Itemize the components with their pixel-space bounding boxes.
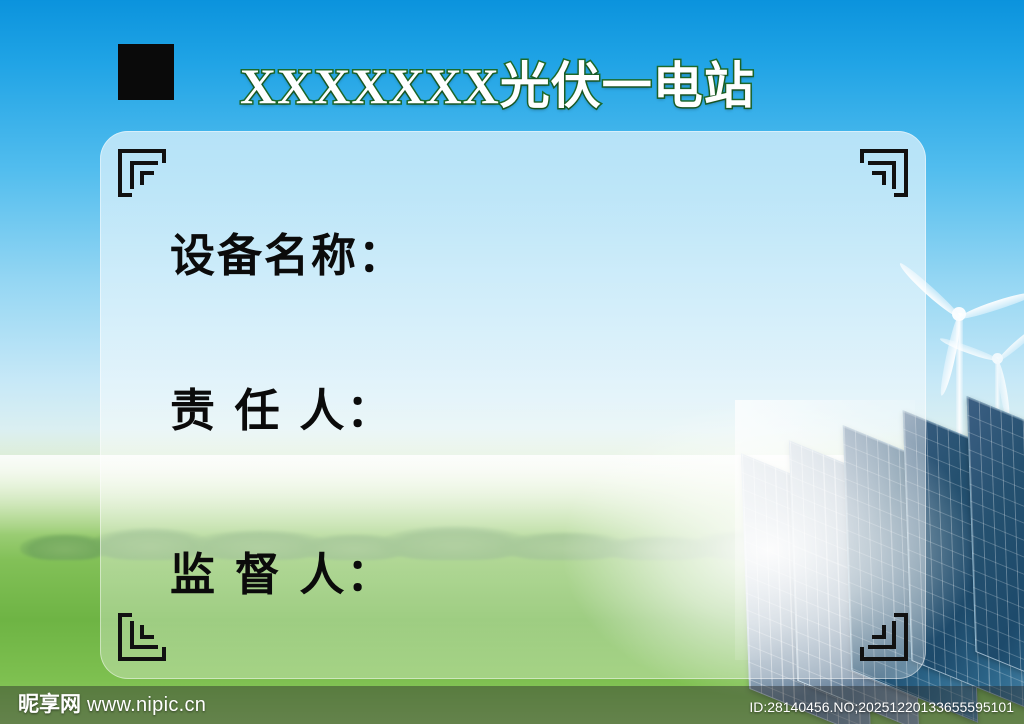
- corner-ornament-bottom-right: [842, 595, 908, 661]
- field-label-supervisor: 监 督 人：: [170, 538, 393, 603]
- watermark-url: www.nipic.cn: [87, 694, 206, 716]
- field-label-responsible-person: 责 任 人：: [170, 374, 393, 439]
- corner-ornament-top-right: [842, 149, 908, 215]
- field-label-equipment-name: 设备名称：: [170, 219, 405, 284]
- corner-ornament-bottom-left: [118, 595, 184, 661]
- page-title: XXXXXXX光伏一电站: [240, 46, 755, 118]
- watermark-brand: 昵享网: [18, 692, 81, 716]
- watermark: 昵享网www.nipic.cn: [18, 688, 206, 718]
- corner-ornament-top-left: [118, 149, 184, 215]
- poster-canvas: XXXXXXX光伏一电站: [0, 0, 1024, 724]
- image-id-text: ID:28140456.NO;20251220133655595101: [749, 699, 1014, 715]
- logo-placeholder: [118, 44, 174, 100]
